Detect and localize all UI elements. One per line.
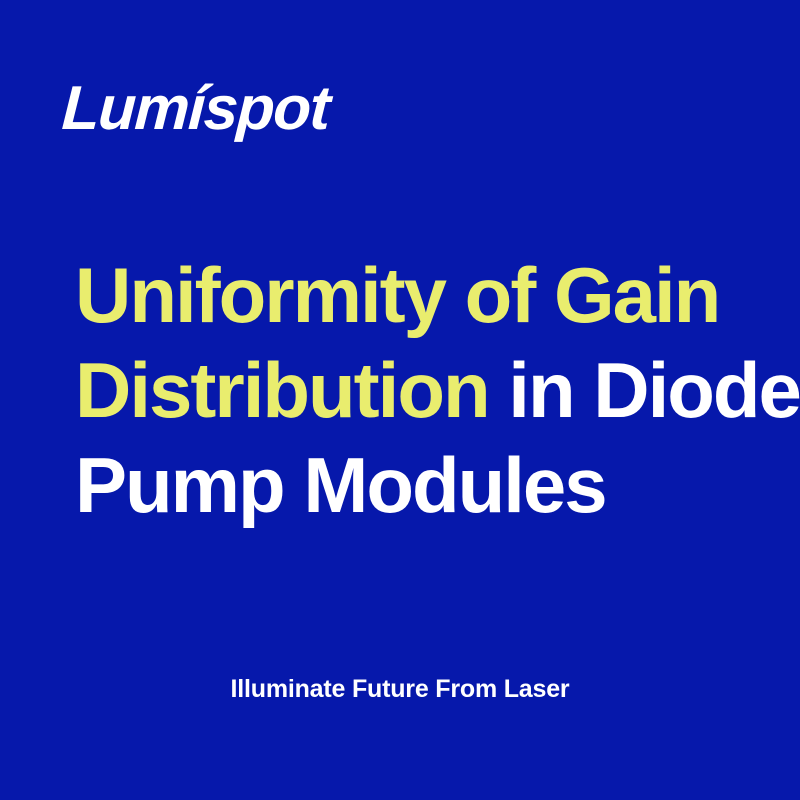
headline-line-3: Pump Modules xyxy=(75,438,755,533)
headline-line-1: Uniformity of Gain xyxy=(75,248,755,343)
title-card: Lumíspot Uniformity of Gain Distribution… xyxy=(0,0,800,800)
page-title: Uniformity of Gain Distribution in Diode… xyxy=(75,248,755,533)
headline-segment: Uniformity of Gain xyxy=(75,251,719,339)
lumispot-wordmark-icon: Lumíspot xyxy=(60,78,330,140)
headline-line-2: Distribution in Diode xyxy=(75,343,755,438)
brand-tagline: Illuminate Future From Laser xyxy=(0,673,800,705)
headline-segment: in Diode xyxy=(489,346,800,434)
headline-segment: Distribution xyxy=(75,346,489,434)
brand-logo[interactable]: Lumíspot xyxy=(62,70,329,148)
headline-segment: Pump Modules xyxy=(75,441,606,529)
